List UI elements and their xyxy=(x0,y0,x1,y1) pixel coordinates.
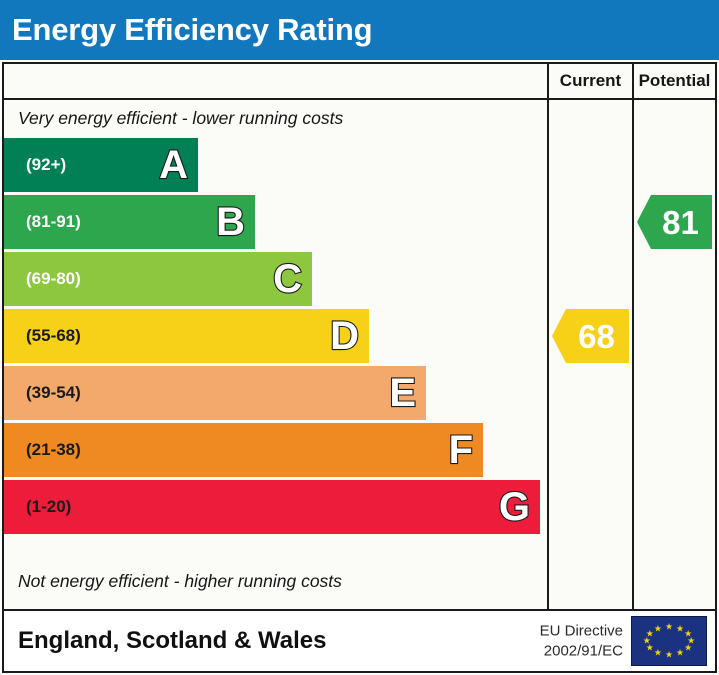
caption-top: Very energy efficient - lower running co… xyxy=(4,100,547,136)
band-bars: (92+)A(81-91)B(69-80)C(55-68)D(39-54)E(2… xyxy=(4,138,547,563)
band-range-f: (21-38) xyxy=(26,440,81,460)
footer-region-label: England, Scotland & Wales xyxy=(18,627,326,655)
band-bar-e: (39-54)E xyxy=(4,366,426,420)
band-range-c: (69-80) xyxy=(26,269,81,289)
page-title: Energy Efficiency Rating xyxy=(12,12,372,48)
current-rating-marker: 68 xyxy=(552,309,629,363)
band-bar-f: (21-38)F xyxy=(4,423,483,477)
eu-flag-star: ★ xyxy=(684,644,692,653)
band-bar-a: (92+)A xyxy=(4,138,198,192)
eu-flag-star: ★ xyxy=(646,629,654,638)
chart-title-bar: Energy Efficiency Rating xyxy=(0,0,719,60)
eu-flag-star: ★ xyxy=(654,649,662,658)
column-header-row: Current Potential xyxy=(4,64,715,100)
eu-flag-icon: ★★★★★★★★★★★★ xyxy=(631,616,707,666)
band-letter-a: A xyxy=(159,145,188,185)
band-letter-g: G xyxy=(499,487,530,527)
band-range-e: (39-54) xyxy=(26,383,81,403)
rating-table: Current Potential Very energy efficient … xyxy=(2,62,717,611)
band-range-d: (55-68) xyxy=(26,326,81,346)
eu-flag-star: ★ xyxy=(654,624,662,633)
column-header-potential: Potential xyxy=(632,64,715,98)
directive-line-1: EU Directive xyxy=(540,622,623,642)
band-range-a: (92+) xyxy=(26,155,66,175)
caption-bottom: Not energy efficient - higher running co… xyxy=(4,563,547,599)
eu-flag-star: ★ xyxy=(665,622,673,631)
band-bar-g: (1-20)G xyxy=(4,480,540,534)
footer-directive-label: EU Directive 2002/91/EC xyxy=(540,622,623,661)
potential-rating-value: 81 xyxy=(650,206,699,239)
eu-flag-star: ★ xyxy=(676,649,684,658)
current-rating-value: 68 xyxy=(566,320,615,353)
band-range-b: (81-91) xyxy=(26,212,81,232)
band-bar-d: (55-68)D xyxy=(4,309,369,363)
band-letter-e: E xyxy=(389,373,416,413)
band-letter-d: D xyxy=(330,316,359,356)
band-bar-b: (81-91)B xyxy=(4,195,255,249)
column-divider-potential xyxy=(632,100,634,609)
column-header-current: Current xyxy=(547,64,632,98)
eu-flag-star: ★ xyxy=(676,624,684,633)
potential-rating-marker: 81 xyxy=(637,195,712,249)
band-letter-b: B xyxy=(216,202,245,242)
eu-flag-star: ★ xyxy=(665,651,673,660)
band-letter-f: F xyxy=(449,430,473,470)
band-range-g: (1-20) xyxy=(26,497,71,517)
chart-footer: England, Scotland & Wales EU Directive 2… xyxy=(2,611,717,673)
directive-line-2: 2002/91/EC xyxy=(540,641,623,661)
band-bar-c: (69-80)C xyxy=(4,252,312,306)
band-letter-c: C xyxy=(273,259,302,299)
column-divider-current xyxy=(547,100,549,609)
energy-efficiency-rating-chart: Energy Efficiency Rating Current Potenti… xyxy=(0,0,719,675)
